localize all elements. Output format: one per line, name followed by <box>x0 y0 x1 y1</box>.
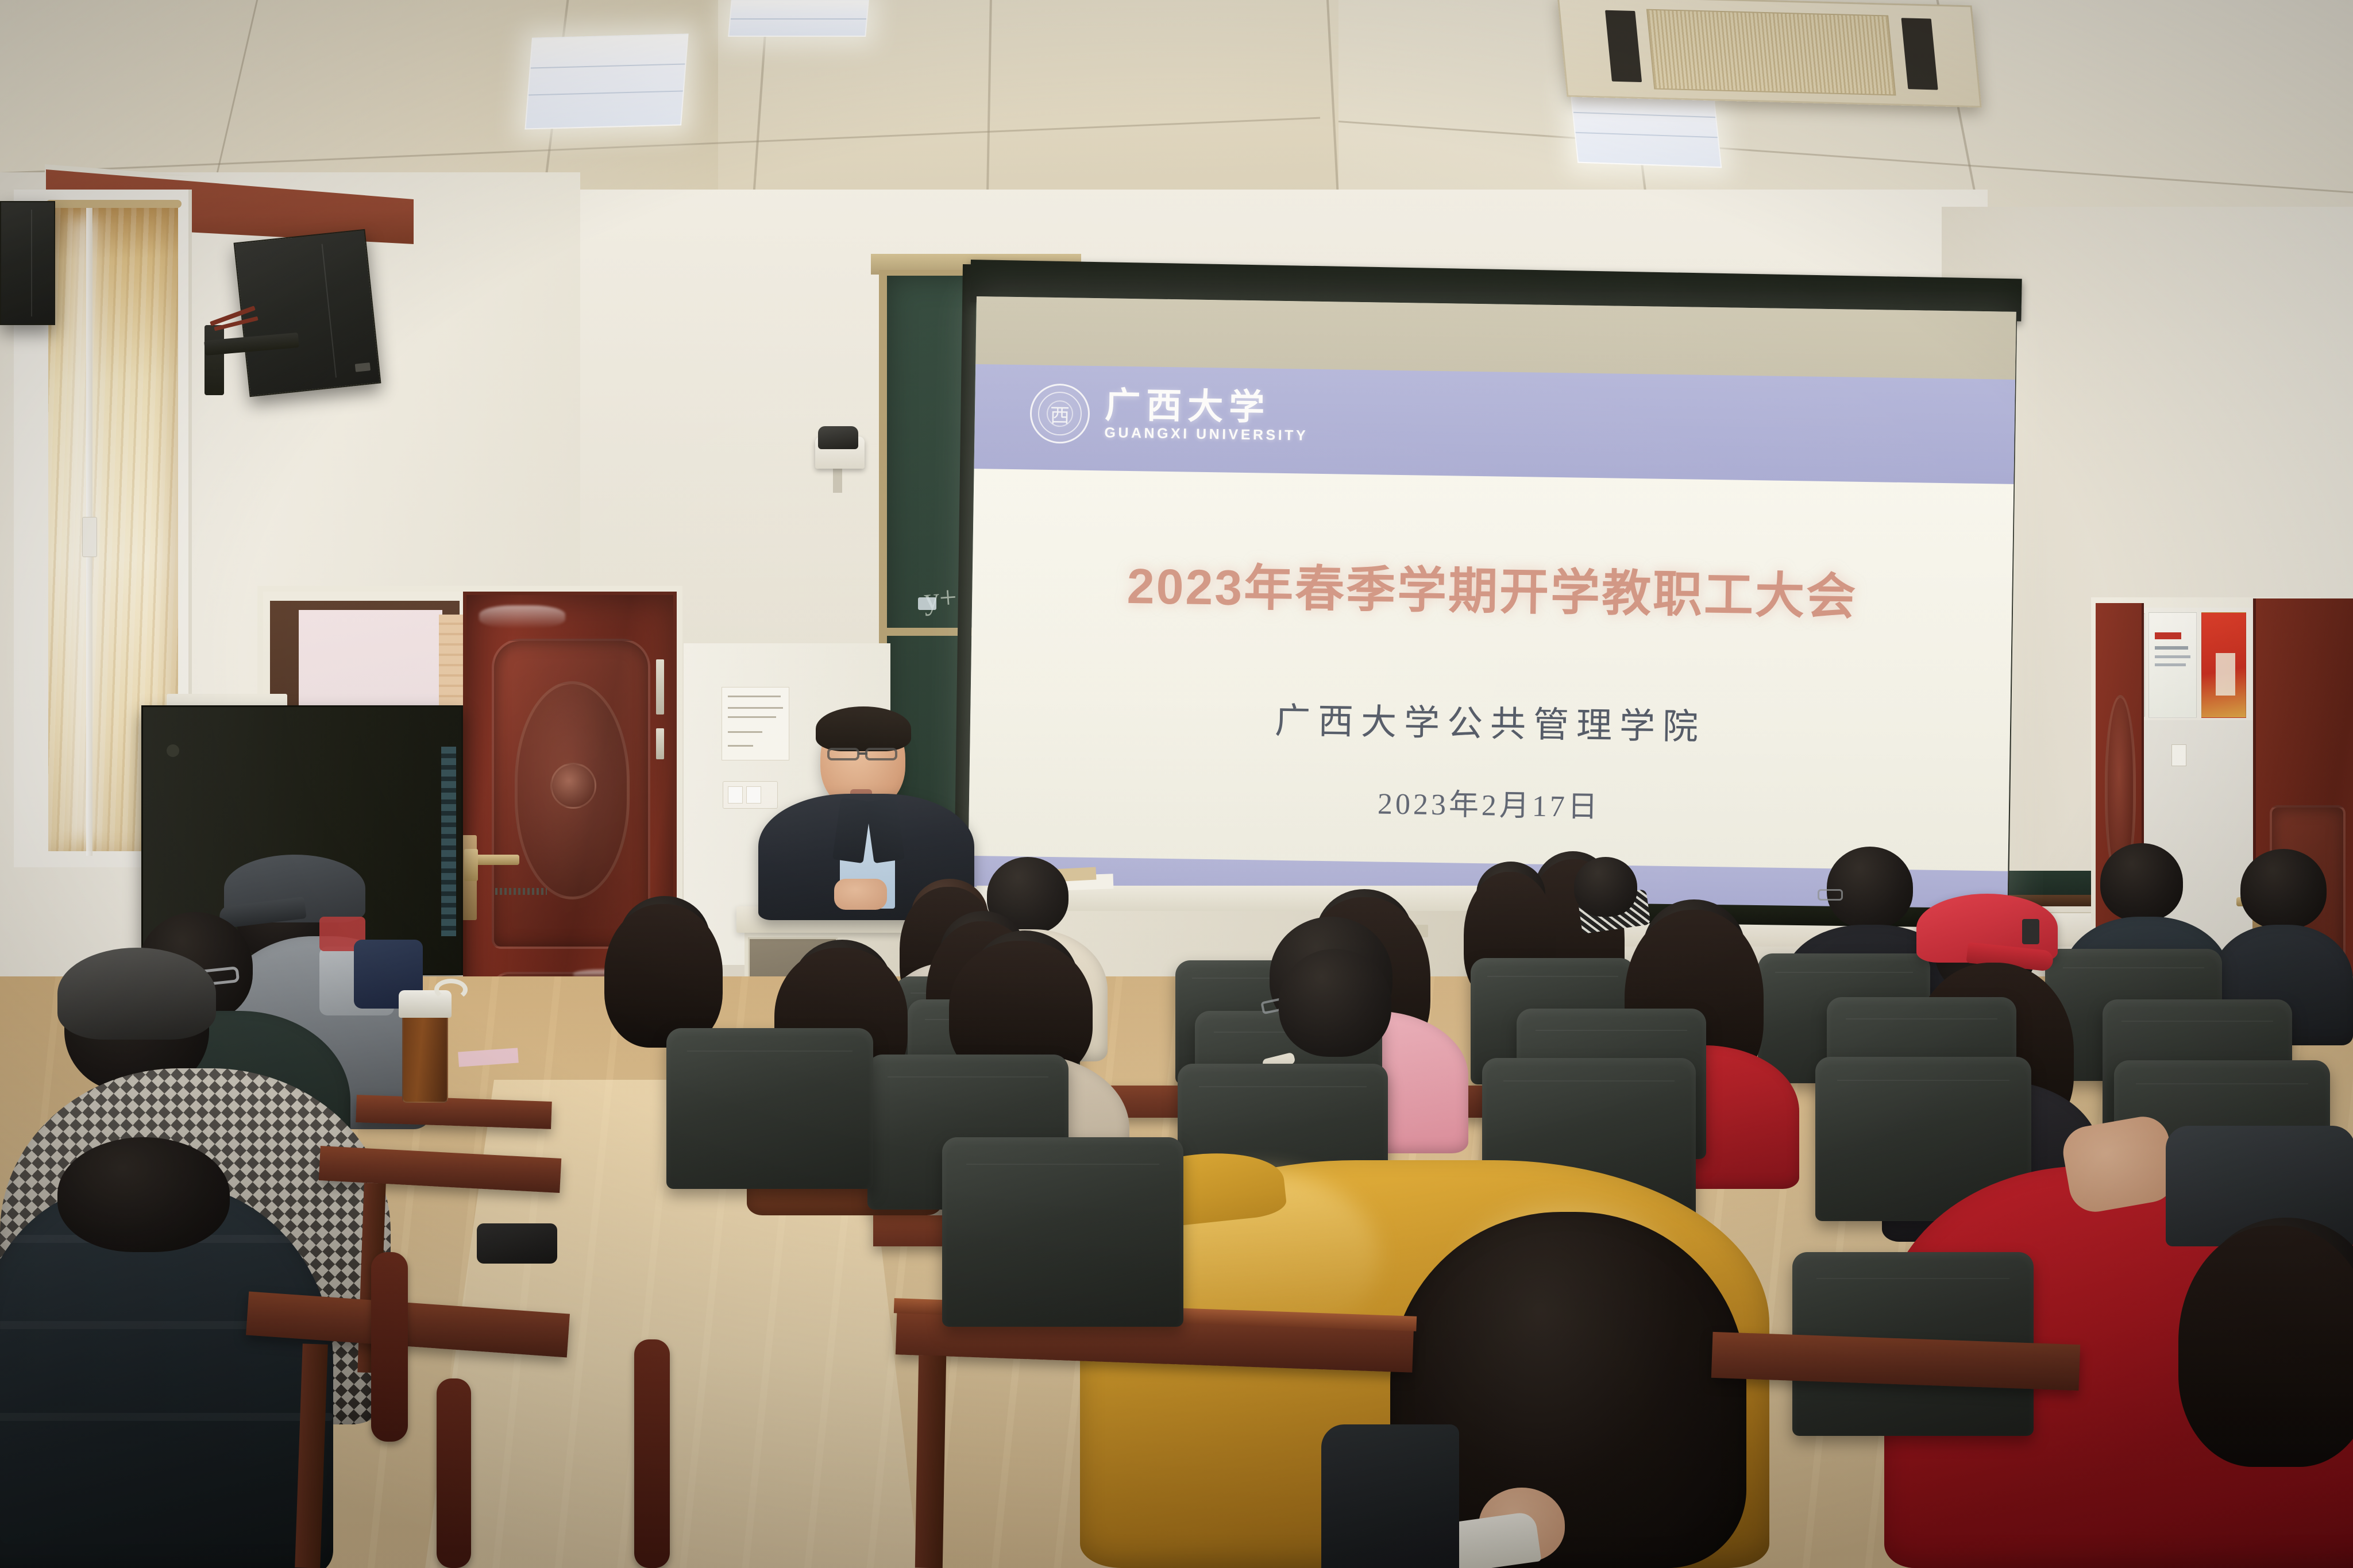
puffer-seam <box>0 1413 333 1421</box>
audience-head <box>2240 849 2327 929</box>
university-seal-icon: 西 <box>1029 383 1090 444</box>
chair-arm <box>634 1339 670 1568</box>
presenter-hair <box>816 706 911 751</box>
audience-head <box>2100 843 2183 921</box>
presenter-glasses-right <box>865 748 897 760</box>
ceiling-light-panel-6 <box>728 0 869 37</box>
corridor-poster-2 <box>2148 612 2197 718</box>
logo-text-block: 广西大学 GUANGXI UNIVERSITY <box>1104 388 1309 444</box>
curtain-rod <box>46 200 182 208</box>
tea-thermos <box>402 1011 448 1103</box>
corridor-poster-3 <box>2201 612 2246 718</box>
security-camera-mount <box>833 466 842 493</box>
audience-head <box>1827 847 1913 928</box>
cabinet-side-vent <box>441 747 456 936</box>
seal-glyph: 西 <box>1031 385 1088 442</box>
window-latch[interactable] <box>82 517 97 557</box>
thermos-handle[interactable] <box>434 979 468 1001</box>
desk-leg <box>915 1355 946 1568</box>
blackboard-sticker <box>918 597 936 610</box>
university-logo: 西 广西大学 GUANGXI UNIVERSITY <box>1029 383 1309 447</box>
corridor-light-switch[interactable] <box>2171 744 2186 766</box>
chair[interactable] <box>666 1028 873 1189</box>
desk-item-dark <box>477 1223 557 1264</box>
presenter-glasses-bridge <box>858 752 867 755</box>
ceiling-light-panel-1 <box>524 33 688 129</box>
audience-glasses <box>1818 889 1843 901</box>
audience-head <box>1279 949 1391 1057</box>
chair-arm <box>437 1378 471 1568</box>
logo-english-name: GUANGXI UNIVERSITY <box>1104 424 1308 444</box>
speaker-bracket-post <box>205 325 224 395</box>
security-camera-lens-icon <box>818 426 858 449</box>
cabinet-knob[interactable] <box>167 744 179 757</box>
presenter-hand <box>834 879 887 910</box>
lecture-hall-photo: y+ ~ 西 广西大学 GUANGXI UNIVERSITY 2023年春季学期… <box>0 0 2353 1568</box>
wall-speaker-left-upper <box>0 201 55 325</box>
foreground-shoulder <box>1321 1424 1459 1568</box>
chair[interactable] <box>942 1137 1183 1327</box>
wall-notice-sheet <box>722 687 789 760</box>
wall-speaker-left-lower <box>234 229 381 397</box>
audience-head <box>57 1137 230 1252</box>
audience-hair <box>604 904 723 1048</box>
logo-chinese-name: 广西大学 <box>1105 388 1309 426</box>
cabinet-perforation <box>495 888 547 895</box>
audience-head <box>1574 857 1637 917</box>
ceiling-light-panel-3 <box>1570 90 1722 168</box>
air-conditioner-unit <box>1557 0 1981 107</box>
presenter-glasses-left <box>827 748 859 760</box>
audience-hair <box>57 948 216 1040</box>
projection-screen: 西 广西大学 GUANGXI UNIVERSITY 2023年春季学期开学教职工… <box>967 296 2016 921</box>
light-switch[interactable] <box>723 781 778 809</box>
chair-arm <box>371 1252 408 1442</box>
cap-logo-patch <box>2022 919 2039 944</box>
audience-hair <box>2178 1226 2353 1467</box>
